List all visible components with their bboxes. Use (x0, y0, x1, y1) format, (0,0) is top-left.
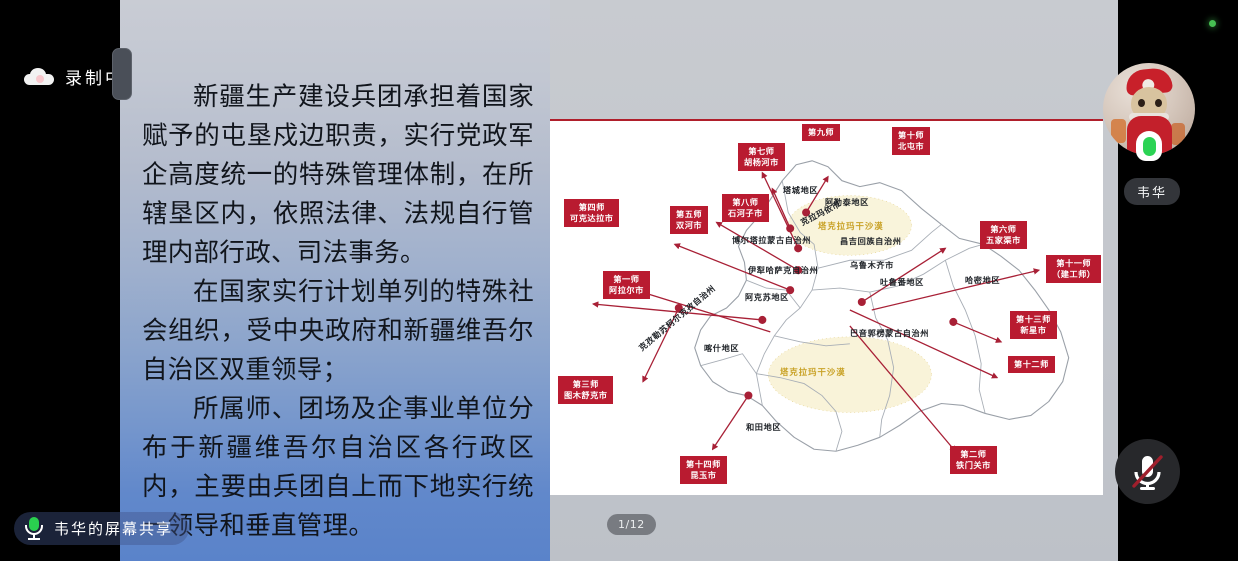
avatar-prop-right (1171, 123, 1185, 145)
map-label-div7[interactable]: 第七师胡杨河市 (738, 143, 785, 171)
region-label-bortala: 博尔塔拉蒙古自治州 (732, 234, 811, 246)
panel-drag-handle[interactable] (112, 48, 132, 100)
region-label-hami: 哈密地区 (965, 274, 1000, 286)
map-label-div2[interactable]: 第二师铁门关市 (950, 446, 997, 474)
map-label-div14[interactable]: 第十四师昆玉市 (680, 456, 727, 484)
avatar-eye-right (1155, 99, 1162, 107)
microphone-icon (24, 517, 44, 540)
map-label-div12[interactable]: 第十二师 (1008, 356, 1055, 373)
region-label-ili: 伊犁哈萨克自治州 (748, 264, 818, 276)
online-indicator-icon (1209, 20, 1216, 27)
participant-name: 韦华 (1124, 178, 1180, 205)
region-label-tacheng: 塔城地区 (783, 184, 818, 196)
shared-screen-content[interactable]: 新疆生产建设兵团承担着国家赋予的屯垦戍边职责，实行党政军企高度统一的特殊管理体制… (120, 0, 1118, 561)
participant-mic-active-icon (1136, 131, 1162, 161)
region-label-bayingol: 巴音郭楞蒙古自治州 (850, 327, 929, 339)
region-label-turpan: 吐鲁番地区 (880, 276, 924, 288)
map-graphic (550, 121, 1103, 495)
map-label-div3[interactable]: 第三师图木舒克市 (558, 376, 613, 404)
avatar-prop-left (1111, 119, 1126, 143)
microphone-muted-icon (1115, 439, 1180, 504)
map-label-div5[interactable]: 第五师双河市 (670, 206, 708, 234)
page-indicator: 1/12 (607, 514, 656, 535)
recording-badge: 录制中 (24, 64, 125, 89)
xinjiang-map: 第四师可克达拉市 第五师双河市 第七师胡杨河市 第八师石河子市 第九师 第十师北… (550, 119, 1103, 495)
participant-tile[interactable]: 韦华 (1103, 63, 1195, 155)
mute-toggle-button[interactable] (1115, 439, 1180, 504)
slide-text-body: 新疆生产建设兵团承担着国家赋予的屯垦戍边职责，实行党政军企高度统一的特殊管理体制… (142, 78, 534, 546)
mic-level-fill (1143, 137, 1156, 156)
recording-dot-icon (36, 75, 44, 83)
cloud-recording-icon (24, 68, 54, 85)
map-label-div13[interactable]: 第十三师新星市 (1010, 311, 1057, 339)
slide-paragraph-1: 新疆生产建设兵团承担着国家赋予的屯垦戍边职责，实行党政军企高度统一的特殊管理体制… (142, 78, 534, 273)
map-label-div10[interactable]: 第十师北屯市 (892, 127, 930, 155)
slide-paragraph-2: 在国家实行计划单列的特殊社会组织，受中央政府和新疆维吾尔自治区双重领导； (142, 273, 534, 390)
map-label-div1[interactable]: 第一师阿拉尔市 (603, 271, 650, 299)
map-label-div11[interactable]: 第十一师（建工师） (1046, 255, 1101, 283)
region-label-kashgar: 喀什地区 (704, 342, 739, 354)
region-label-changji: 昌吉回族自治州 (840, 235, 902, 247)
slide-paragraph-3: 所属师、团场及企事业单位分布于新疆维吾尔自治区各行政区内，主要由兵团自上而下地实… (142, 390, 534, 546)
region-label-hotan: 和田地区 (746, 421, 781, 433)
region-label-urumqi: 乌鲁木齐市 (850, 259, 894, 271)
region-label-aksu: 阿克苏地区 (745, 291, 789, 303)
map-label-div8[interactable]: 第八师石河子市 (722, 194, 769, 222)
screen-share-label: 韦华的屏幕共享 (54, 518, 173, 539)
slide-map-pane: 第四师可克达拉市 第五师双河市 第七师胡杨河市 第八师石河子市 第九师 第十师北… (550, 0, 1118, 561)
desert-label-gurbantunggut: 塔克拉玛干沙漠 (818, 220, 884, 232)
map-label-div9[interactable]: 第九师 (802, 124, 840, 141)
screen-share-status[interactable]: 韦华的屏幕共享 (14, 512, 189, 545)
avatar-eye-left (1138, 99, 1145, 107)
slide-text-pane: 新疆生产建设兵团承担着国家赋予的屯垦戍边职责，实行党政军企高度统一的特殊管理体制… (120, 0, 550, 561)
desert-label-taklamakan: 塔克拉玛干沙漠 (780, 366, 846, 378)
map-label-div6[interactable]: 第六师五家渠市 (980, 221, 1027, 249)
map-label-div4[interactable]: 第四师可克达拉市 (564, 199, 619, 227)
meeting-screen: 录制中 新疆生产建设兵团承担着国家赋予的屯垦戍边职责，实行党政军企高度统一的特殊… (0, 0, 1238, 561)
